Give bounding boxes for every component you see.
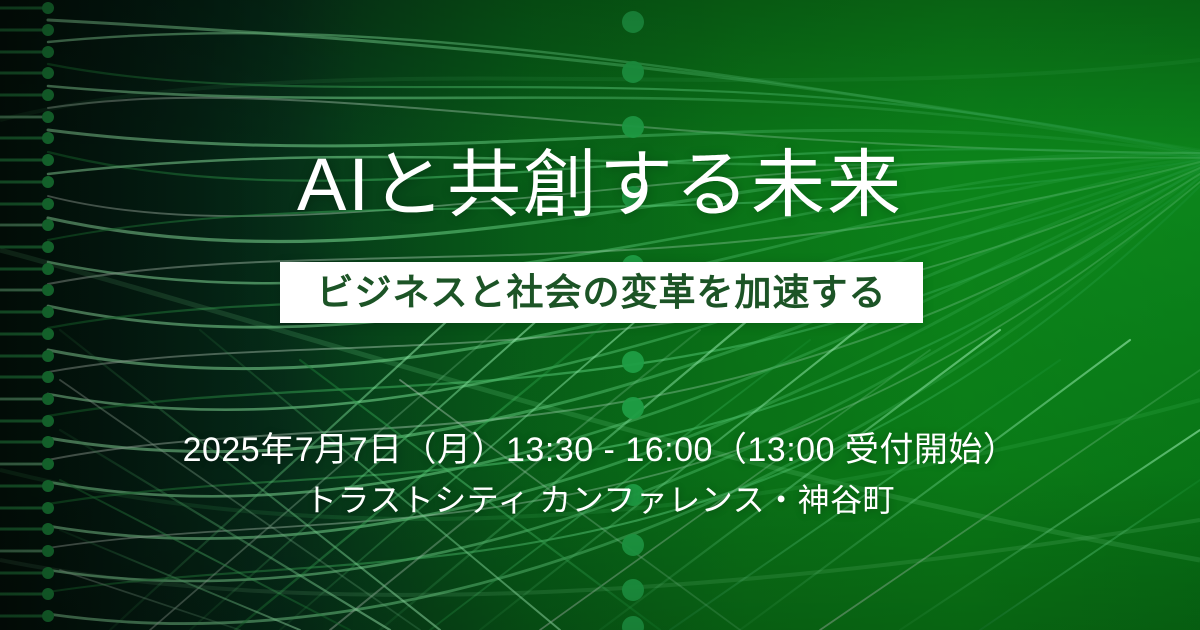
subtitle-text: ビジネスと社会の変革を加速する <box>317 274 887 311</box>
event-poster: AIと共創する未来 ビジネスと社会の変革を加速する 2025年7月7日（月）13… <box>0 0 1200 630</box>
page-title: AIと共創する未来 <box>0 148 1200 222</box>
event-venue: トラストシティ カンファレンス・神谷町 <box>0 481 1200 519</box>
subtitle-banner: ビジネスと社会の変革を加速する <box>280 262 923 323</box>
event-date: 2025年7月7日（月）13:30 - 16:00（13:00 受付開始） <box>0 430 1200 471</box>
poster-content: AIと共創する未来 ビジネスと社会の変革を加速する 2025年7月7日（月）13… <box>0 0 1200 630</box>
